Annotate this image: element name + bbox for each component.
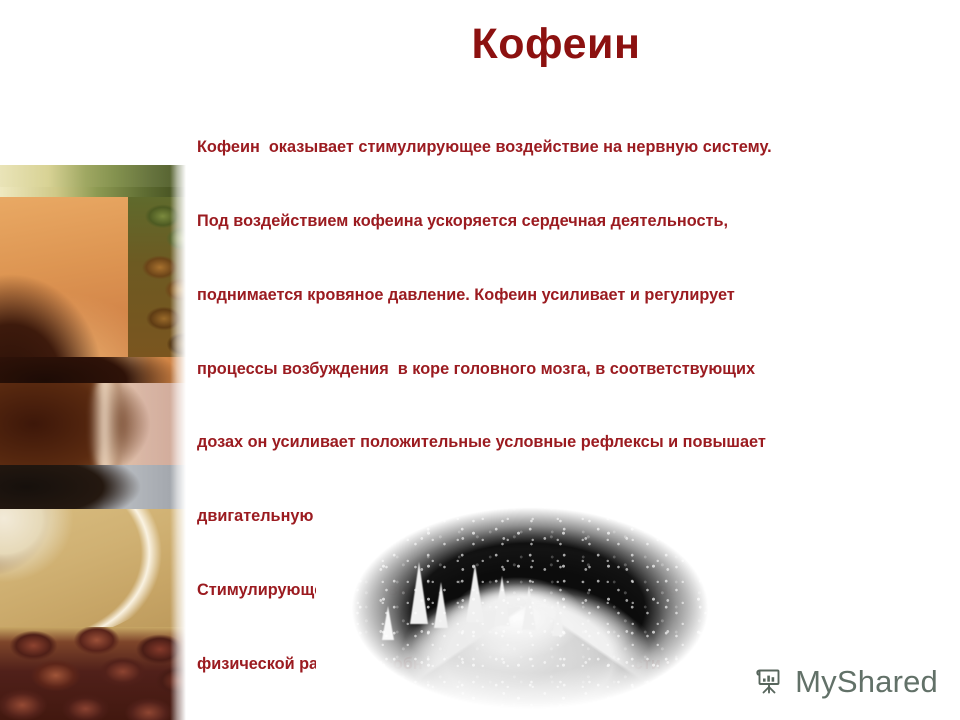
body-line: процессы возбуждения в коре головного мо… (197, 357, 945, 382)
body-line: Под воздействием кофеина ускоряется серд… (197, 209, 945, 234)
strip-band-olive-stripe-secondary (0, 187, 186, 197)
presentation-slide: Кофеин Кофеин оказывает стимулирующее во… (0, 0, 960, 720)
caffeine-powder-image (316, 487, 744, 720)
strip-band-orange-crema (0, 197, 186, 357)
strip-band-dark-coffee-liquid (0, 357, 186, 383)
strip-band-grey-stripe (0, 465, 186, 509)
body-line: поднимается кровяное давление. Кофеин ус… (197, 283, 945, 308)
strip-band-coffee-beans-bottom (0, 627, 186, 720)
body-line: дозах он усиливает положительные условны… (197, 430, 945, 455)
presentation-board-icon (752, 664, 786, 698)
strip-band-coffee-beans-top (0, 0, 186, 165)
powder-grain-texture (316, 487, 744, 720)
saucer-edge-highlight (0, 509, 180, 627)
green-bean-cluster (128, 197, 186, 357)
strip-band-olive-stripe (0, 165, 186, 187)
powder-pile (316, 487, 744, 720)
myshared-watermark: MyShared (752, 664, 938, 698)
watermark-label: MyShared (795, 666, 938, 697)
coffee-photo-strip (0, 0, 186, 720)
page-title: Кофеин (186, 22, 926, 67)
strip-band-tan-saucer (0, 509, 186, 627)
cup-rim-highlight (89, 383, 123, 465)
strip-band-mauve-stripe (0, 383, 186, 465)
body-line: Кофеин оказывает стимулирующее воздейств… (197, 135, 945, 160)
